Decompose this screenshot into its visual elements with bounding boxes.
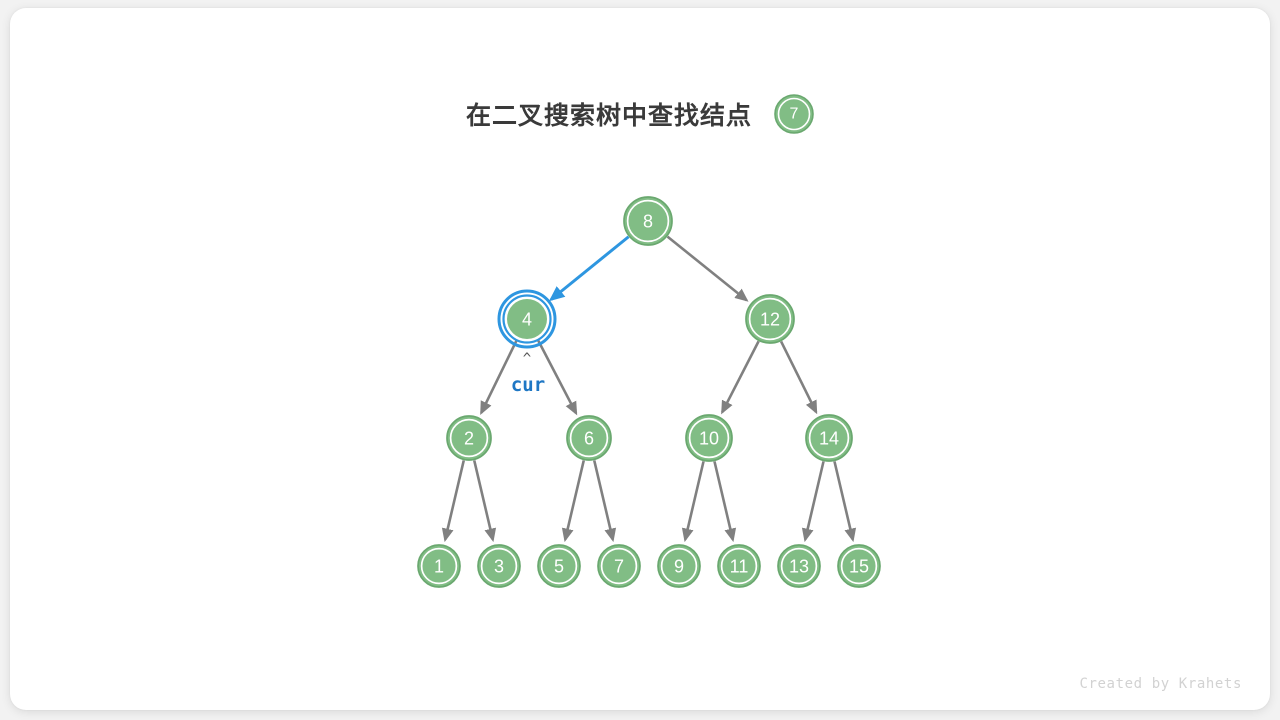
tree-node-5[interactable]: 5 (538, 545, 580, 587)
tree-edge-2-to-3 (474, 460, 493, 539)
node-value-label: 11 (730, 557, 749, 577)
node-value-label: 2 (464, 429, 474, 449)
tree-edge-6-to-7 (594, 460, 613, 539)
tree-node-14[interactable]: 14 (806, 415, 852, 461)
node-value-label: 10 (699, 429, 719, 449)
diagram-card: 在二叉搜索树中查找结点 7 841226101413579111315 (10, 8, 1270, 710)
tree-node-1[interactable]: 1 (418, 545, 460, 587)
tree-edge-10-to-9 (685, 461, 703, 539)
tree-edge-10-to-11 (714, 461, 732, 539)
diagram-stage: 在二叉搜索树中查找结点 7 841226101413579111315 (10, 8, 1270, 710)
tree-node-6[interactable]: 6 (567, 416, 611, 460)
node-value-label: 1 (434, 557, 444, 577)
tree-edge-2-to-1 (445, 460, 464, 539)
cur-pointer-group: ^ cur (511, 351, 545, 396)
node-value-label: 3 (494, 557, 504, 577)
node-value-label: 8 (643, 212, 653, 232)
tree-edge-8-to-4 (551, 237, 628, 300)
tree-node-layer: 841226101413579111315 (418, 197, 880, 587)
tree-node-13[interactable]: 13 (778, 545, 820, 587)
caret-icon: ^ (523, 351, 531, 367)
tree-edge-14-to-15 (834, 461, 852, 539)
node-value-label: 9 (674, 557, 684, 577)
tree-node-8[interactable]: 8 (624, 197, 672, 245)
tree-node-7[interactable]: 7 (598, 545, 640, 587)
tree-edge-layer (445, 237, 853, 540)
tree-edge-12-to-14 (781, 341, 816, 412)
node-value-label: 13 (789, 557, 809, 577)
tree-edge-12-to-10 (722, 341, 758, 412)
node-value-label: 4 (522, 310, 532, 330)
tree-node-4[interactable]: 4 (499, 291, 555, 347)
tree-node-2[interactable]: 2 (447, 416, 491, 460)
cur-pointer-label: cur (511, 374, 545, 396)
tree-node-9[interactable]: 9 (658, 545, 700, 587)
tree-node-12[interactable]: 12 (746, 295, 794, 343)
binary-search-tree-svg: 841226101413579111315 ^ cur (10, 8, 1270, 710)
node-value-label: 7 (614, 557, 624, 577)
tree-node-15[interactable]: 15 (838, 545, 880, 587)
tree-node-10[interactable]: 10 (686, 415, 732, 461)
tree-node-3[interactable]: 3 (478, 545, 520, 587)
node-value-label: 15 (849, 557, 869, 577)
node-value-label: 5 (554, 557, 564, 577)
tree-edge-14-to-13 (805, 461, 823, 539)
node-value-label: 6 (584, 429, 594, 449)
tree-edge-6-to-5 (565, 460, 584, 539)
node-value-label: 14 (819, 429, 839, 449)
tree-edge-8-to-12 (667, 237, 746, 301)
tree-node-11[interactable]: 11 (718, 545, 760, 587)
credit-footer: Created by Krahets (1079, 676, 1242, 692)
node-value-label: 12 (760, 310, 780, 330)
